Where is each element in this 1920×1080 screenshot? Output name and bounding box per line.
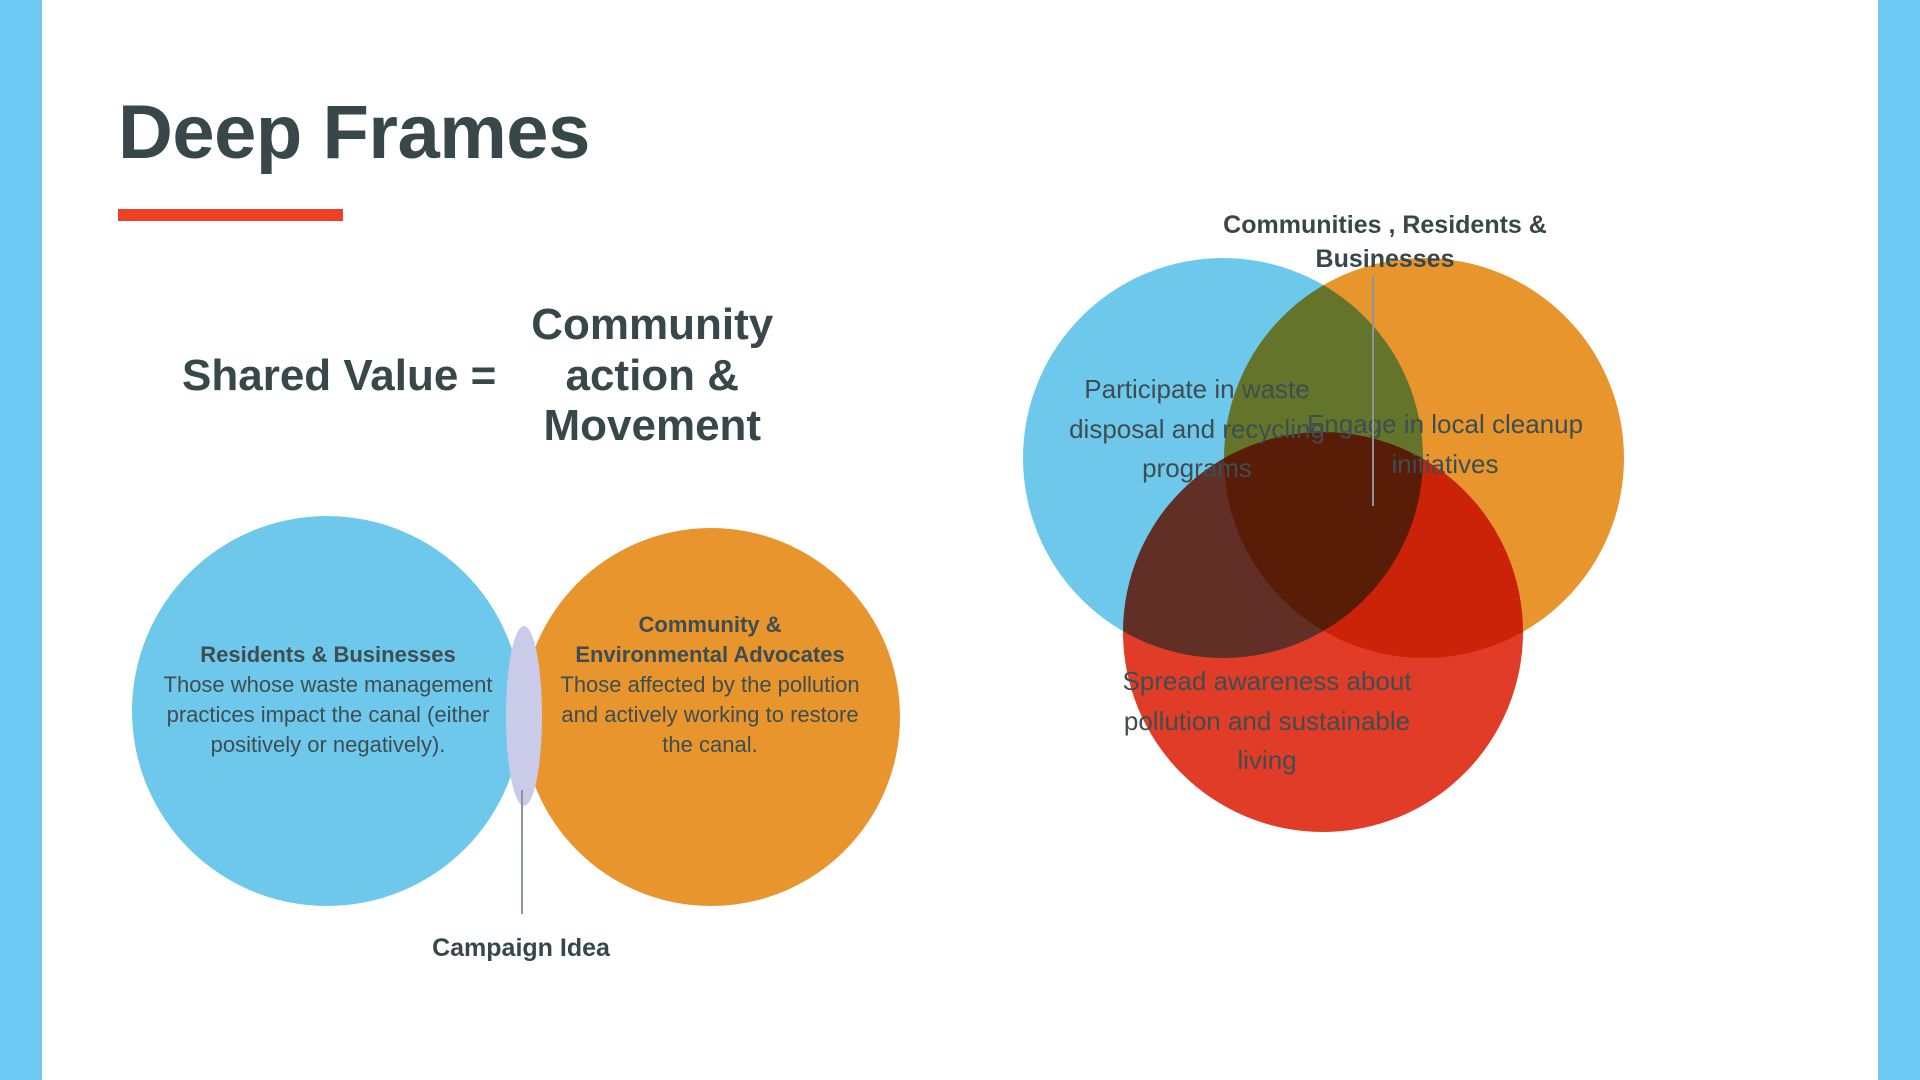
venn-left-leader-line: [521, 790, 523, 914]
venn-diagram-left: Residents & Businesses Those whose waste…: [0, 0, 960, 1080]
venn-right-label-awareness: Spread awareness about pollution and sus…: [1092, 662, 1442, 781]
venn-diagram-right: Participate in waste disposal and recycl…: [960, 0, 1920, 1080]
venn-right-leader-line: [1372, 276, 1374, 506]
venn-left-heading-residents-businesses: Residents & Businesses: [150, 640, 506, 670]
venn-left-heading-advocates: Community & Environmental Advocates: [560, 610, 860, 670]
venn-left-label-advocates: Community & Environmental Advocates Thos…: [560, 610, 860, 760]
venn-left-body-residents-businesses: Those whose waste management practices i…: [150, 670, 506, 760]
venn-left-body-advocates: Those affected by the pollution and acti…: [560, 670, 860, 760]
venn-left-label-residents-businesses: Residents & Businesses Those whose waste…: [150, 640, 506, 760]
venn-right-callout-communities: Communities , Residents & Businesses: [1160, 208, 1610, 276]
venn-right-label-cleanup: Engage in local cleanup initiatives: [1280, 405, 1610, 484]
venn-left-callout-campaign-idea: Campaign Idea: [361, 932, 681, 965]
venn-left-overlap-region: [506, 626, 542, 806]
